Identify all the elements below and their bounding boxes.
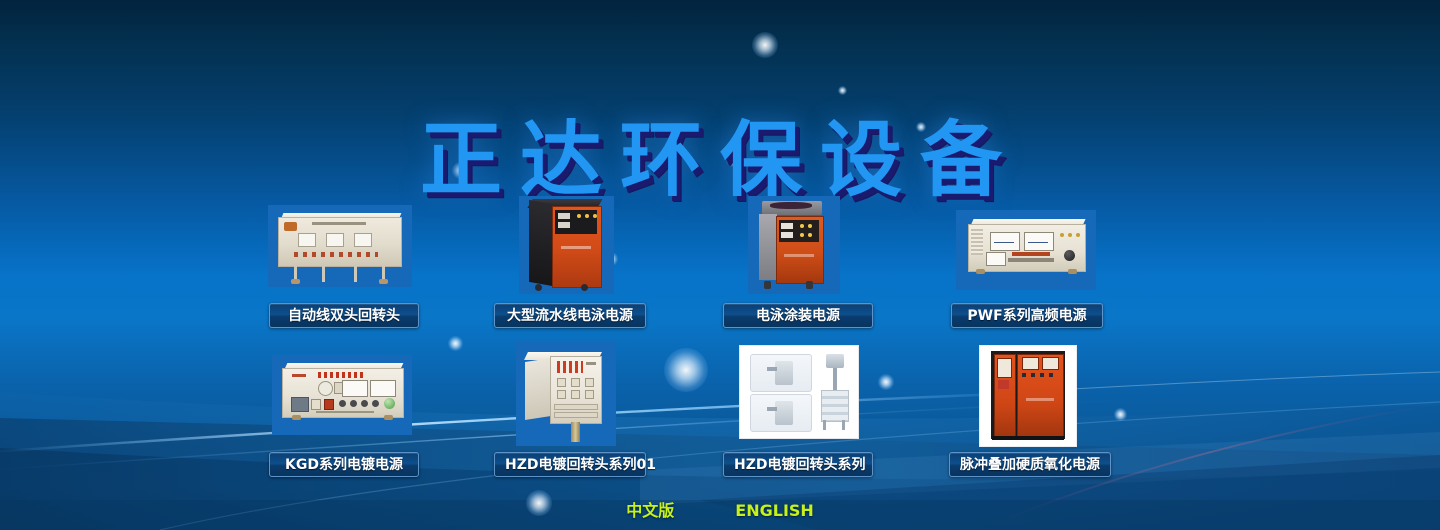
product-5-label[interactable]: KGD系列电镀电源 [269,452,419,477]
product-7-image[interactable] [739,345,859,439]
product-8-label[interactable]: 脉冲叠加硬质氧化电源 [949,452,1111,477]
language-link-english[interactable]: ENGLISH [735,501,814,520]
product-2-label[interactable]: 大型流水线电泳电源 [494,303,646,328]
product-2-image[interactable] [519,196,614,294]
product-4-label[interactable]: PWF系列高频电源 [951,303,1103,328]
product-4-image[interactable] [956,210,1096,290]
language-link-chinese[interactable]: 中文版 [626,497,674,521]
product-3-label[interactable]: 电泳涂装电源 [723,303,873,328]
language-bar: 中文版 ENGLISH [0,497,1440,521]
product-8-image[interactable] [979,345,1077,447]
product-5-image[interactable] [272,355,412,435]
product-1-label[interactable]: 自动线双头回转头 [269,303,419,328]
product-7-label[interactable]: HZD电镀回转头系列 [723,452,873,477]
splash-page: 正达环保设备 自动线双头回转头 [0,0,1440,530]
product-3-image[interactable] [748,196,840,294]
product-6-label[interactable]: HZD电镀回转头系列01 [494,452,646,477]
product-1-image[interactable] [268,205,412,287]
product-grid: 自动线双头回转头 大型流水线电泳电源 [0,0,1440,530]
product-6-image[interactable] [516,342,616,446]
